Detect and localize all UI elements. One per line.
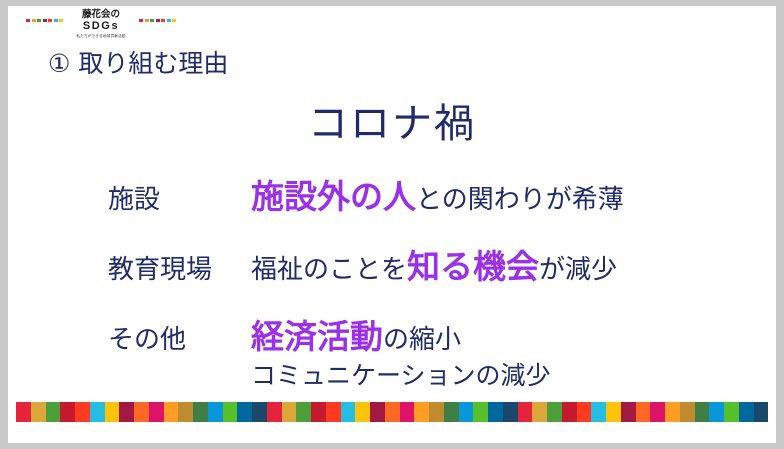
sdg-color-segment (326, 402, 341, 422)
logo-dash (59, 19, 63, 22)
sdg-color-segment (90, 402, 105, 422)
sdg-color-segment (178, 402, 193, 422)
sdg-color-segment (149, 402, 164, 422)
sdg-color-segment (709, 402, 724, 422)
sdg-color-segment (606, 402, 621, 422)
logo-dash (43, 19, 47, 22)
sdg-color-segment (414, 402, 429, 422)
sdg-color-segment (282, 402, 297, 422)
sdg-color-segment (562, 402, 577, 422)
sdg-color-segment (370, 402, 385, 422)
body-text: との関わりが希薄 (416, 185, 624, 215)
sdg-color-segment (252, 402, 267, 422)
sdg-color-segment (223, 402, 238, 422)
sdg-color-segment (680, 402, 695, 422)
sdg-color-segment (355, 402, 370, 422)
row-body: 施設外の人との関わりが希薄 (251, 170, 776, 218)
logo-dash (48, 19, 52, 22)
logo-dash (26, 19, 30, 22)
main-heading: コロナ禍 (8, 91, 776, 149)
row-label: その他 (108, 319, 251, 356)
content-rows: 施設施設外の人との関わりが希薄教育現場福祉のことを知る機会が減少その他経済活動の… (8, 170, 776, 392)
emphasis-text: 知る機会 (407, 247, 539, 286)
sdg-color-segment (591, 402, 606, 422)
content-row: 施設施設外の人との関わりが希薄 (8, 170, 776, 218)
sdg-color-segment (621, 402, 636, 422)
sdg-color-segment (503, 402, 518, 422)
sdg-color-segment (119, 402, 134, 422)
sdg-color-segment (311, 402, 326, 422)
sdg-color-segment (296, 402, 311, 422)
sdg-color-segment (547, 402, 562, 422)
sdg-color-segment (724, 402, 739, 422)
sdg-color-segment (577, 402, 592, 422)
logo-dash (167, 19, 171, 22)
body-text: が減少 (539, 255, 617, 285)
sdg-color-segment (532, 402, 547, 422)
logo-dash (156, 19, 160, 22)
sdg-color-segment (193, 402, 208, 422)
logo-dash (145, 19, 149, 22)
sdg-color-segment (444, 402, 459, 422)
row-subline: コミュニケーションの減少 (8, 356, 776, 392)
logo-tagline: 私たちができる地域貢献活動 (26, 34, 176, 39)
sdg-color-segment (237, 402, 252, 422)
presentation-slide: 藤花会の SDGs 私たちができる地域貢献活動 ① 取り組む理由 コロナ禍 施設… (8, 6, 776, 443)
sdg-color-segment (341, 402, 356, 422)
logo-dash (54, 19, 58, 22)
logo-dashes-left (26, 19, 63, 22)
sdg-color-segment (16, 402, 31, 422)
sdg-color-segment (650, 402, 665, 422)
logo-sdgs-label: SDGs (26, 21, 176, 32)
content-row: 教育現場福祉のことを知る機会が減少 (8, 240, 776, 288)
sdg-color-segment (695, 402, 710, 422)
logo-dash (32, 19, 36, 22)
sdg-color-segment (665, 402, 680, 422)
row-body: 福祉のことを知る機会が減少 (251, 240, 776, 288)
sdg-color-segment (31, 402, 46, 422)
row-label: 教育現場 (108, 249, 251, 286)
fujikakai-sdgs-logo: 藤花会の SDGs 私たちができる地域貢献活動 (26, 10, 176, 44)
sdg-color-segment (459, 402, 474, 422)
sdg-color-segment (473, 402, 488, 422)
body-text: の縮小 (383, 325, 461, 355)
slide-viewer: 藤花会の SDGs 私たちができる地域貢献活動 ① 取り組む理由 コロナ禍 施設… (0, 0, 784, 449)
sdg-color-segment (400, 402, 415, 422)
logo-dashes-right (139, 19, 176, 22)
sdg-color-segment (164, 402, 179, 422)
emphasis-text: 経済活動 (251, 317, 383, 356)
content-row: その他経済活動の縮小 (8, 310, 776, 358)
sdg-color-bar (16, 402, 768, 422)
logo-dash (139, 19, 143, 22)
logo-dash (172, 19, 176, 22)
sdg-color-segment (134, 402, 149, 422)
sdg-color-segment (385, 402, 400, 422)
body-text: 福祉のことを (251, 255, 407, 285)
sdg-color-segment (739, 402, 754, 422)
sdg-color-segment (754, 402, 769, 422)
sdg-color-segment (208, 402, 223, 422)
row-body: 経済活動の縮小 (251, 310, 776, 358)
sdg-color-segment (636, 402, 651, 422)
sdg-color-segment (75, 402, 90, 422)
sdg-color-segment (267, 402, 282, 422)
row-label: 施設 (108, 179, 251, 216)
logo-dash (150, 19, 154, 22)
sdg-color-segment (488, 402, 503, 422)
logo-dash (37, 19, 41, 22)
sdg-color-segment (518, 402, 533, 422)
logo-dash (161, 19, 165, 22)
sdg-color-segment (60, 402, 75, 422)
section-title: ① 取り組む理由 (48, 44, 228, 80)
sdg-color-segment (429, 402, 444, 422)
sdg-color-segment (46, 402, 61, 422)
sdg-color-segment (105, 402, 120, 422)
emphasis-text: 施設外の人 (251, 177, 416, 216)
